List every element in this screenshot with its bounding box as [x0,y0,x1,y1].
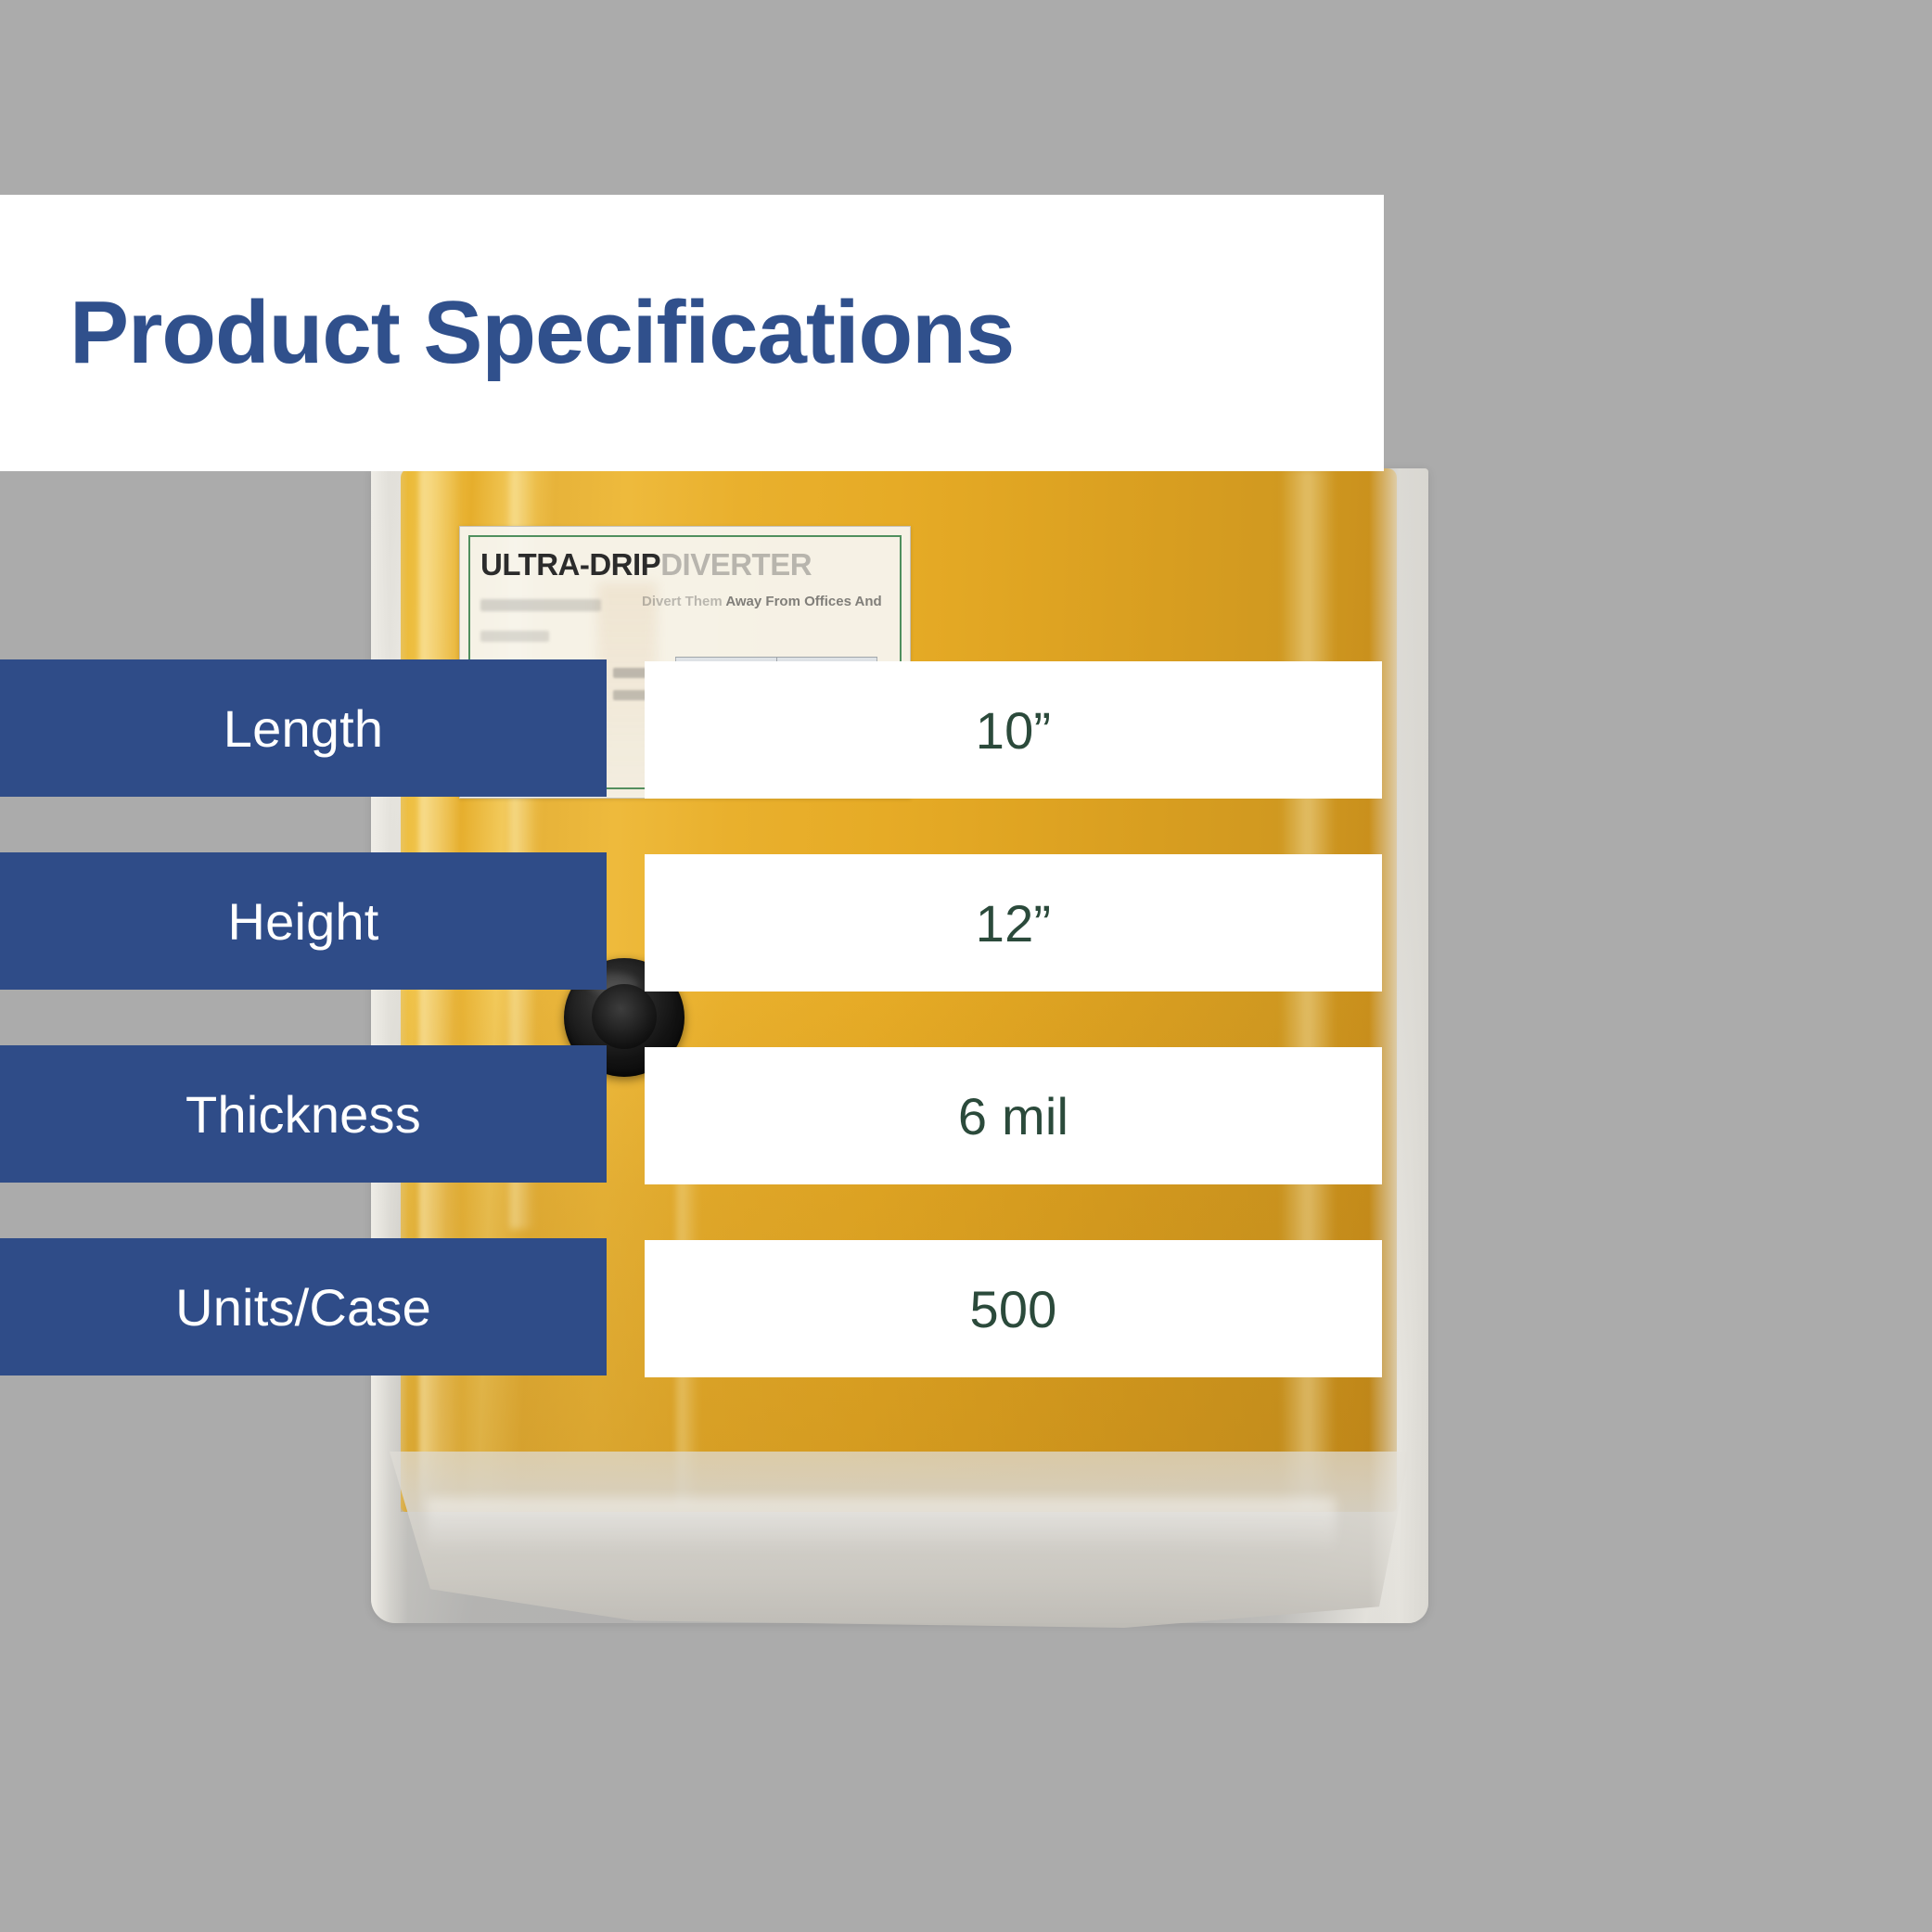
spec-label-text: Units/Case [175,1277,431,1337]
table-row: Units/Case 500 [0,1238,1391,1375]
label-placeholder-line [480,631,549,642]
label-subtitle-text: Away From Offices And [725,594,881,609]
spec-value-units-per-case: 500 [645,1240,1382,1377]
spec-label-length: Length [0,659,607,797]
label-placeholder-line [480,599,601,611]
spec-value-text: 10” [976,700,1052,761]
spec-label-text: Thickness [186,1084,421,1145]
spec-label-text: Height [227,891,378,952]
spec-label-units-per-case: Units/Case [0,1238,607,1375]
label-title: ULTRA-DRIPDIVERTER [480,547,812,582]
table-row: Thickness 6 mil [0,1045,1391,1183]
label-subtitle: Divert Them Away From Offices And [642,594,882,609]
spec-value-text: 500 [969,1279,1056,1339]
spec-label-thickness: Thickness [0,1045,607,1183]
label-title-secondary: DIVERTER [660,547,812,582]
page-title: Product Specifications [70,288,1014,377]
spec-value-height: 12” [645,854,1382,992]
spec-table: Length 10” Height 12” Thickness 6 mil [0,659,1391,1431]
table-row: Height 12” [0,852,1391,990]
spec-label-text: Length [224,698,383,759]
spec-value-text: 6 mil [958,1086,1068,1146]
spec-value-text: 12” [976,893,1052,953]
header-banner: Product Specifications [0,195,1384,471]
bag-bottom-highlight [427,1498,1336,1554]
table-row: Length 10” [0,659,1391,797]
spec-value-thickness: 6 mil [645,1047,1382,1184]
label-title-primary: ULTRA-DRIP [480,547,660,582]
label-subtitle-dim: Divert Them [642,594,723,609]
product-spec-graphic: ULTRA-DRIPDIVERTER Divert Them Away From… [0,0,1932,1932]
spec-value-length: 10” [645,661,1382,799]
spec-label-height: Height [0,852,607,990]
